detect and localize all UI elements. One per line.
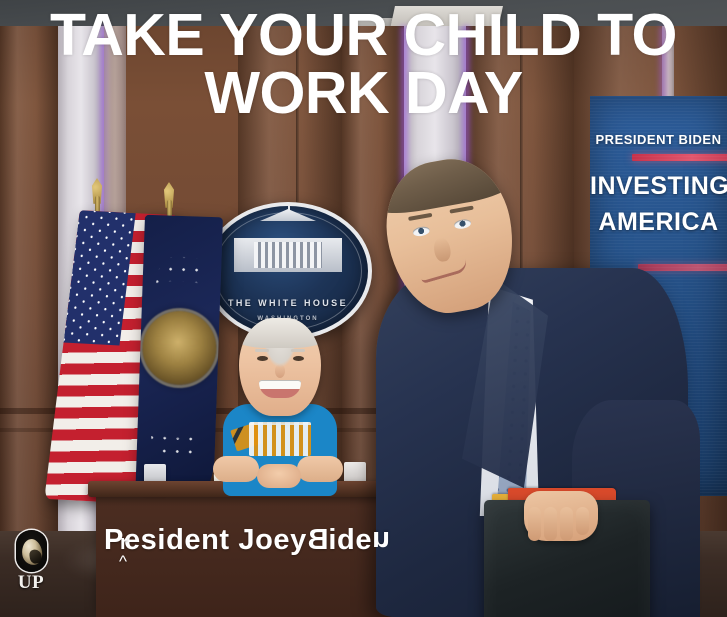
watermark-label: UP <box>8 573 54 592</box>
child-with-biden-head <box>205 318 355 508</box>
white-house-illustration <box>234 218 342 272</box>
press-secretary-man <box>376 150 706 617</box>
man-smirk <box>419 259 468 284</box>
watermark: UP <box>8 530 54 592</box>
man-eyebrow-right <box>449 206 473 214</box>
seal-text-line-1: THE WHITE HOUSE <box>208 298 368 308</box>
meme-title-line-1: TAKE YOUR CHILD TO <box>0 6 727 64</box>
tshirt-graphic <box>249 422 311 456</box>
meme-title: TAKE YOUR CHILD TO WORK DAY <box>0 6 727 123</box>
biden-eye-left <box>257 356 268 361</box>
biden-smile <box>259 380 301 398</box>
caption-segment-2: esident Joey <box>124 524 307 557</box>
presidential-seal-stars <box>143 223 214 495</box>
caption-reversed-n: n <box>372 524 390 557</box>
man-hair <box>376 150 514 218</box>
man-eye-left <box>412 226 430 238</box>
child-hands <box>257 464 301 488</box>
meme-title-line-2: WORK DAY <box>0 64 727 122</box>
man-hand <box>524 491 598 541</box>
caption-segment-3: ide <box>328 524 372 557</box>
caption-caret-glyph: ^ <box>119 553 128 570</box>
man-eye-right <box>453 218 471 230</box>
man-eyebrow-left <box>408 213 432 221</box>
bust-head-icon <box>16 530 47 572</box>
child-arm-left <box>213 456 259 482</box>
seal-columns <box>254 242 322 268</box>
biden-eyebrow-left <box>255 349 269 352</box>
caption-reversed-b: B <box>307 524 329 557</box>
finger <box>544 507 557 541</box>
bust-shape <box>20 538 43 567</box>
biden-head <box>239 318 321 416</box>
biden-white-hair <box>239 318 321 348</box>
seal-building-body <box>234 238 342 272</box>
biden-nose <box>275 364 285 378</box>
child-arm-right <box>297 456 343 482</box>
screen-header-text: PRESIDENT BIDEN <box>590 132 727 147</box>
man-nose <box>432 236 452 262</box>
meme-image: PRESIDENT BIDEN INVESTING IN AMERICA THE… <box>0 0 727 617</box>
finger <box>528 507 541 541</box>
meme-caption: Pr^esident Joey Biden <box>104 524 390 557</box>
finger <box>560 507 573 541</box>
biden-eyebrow-right <box>291 349 305 352</box>
caption-inserted-letter: r <box>120 533 128 553</box>
biden-eye-right <box>293 356 304 361</box>
finger <box>576 507 589 535</box>
